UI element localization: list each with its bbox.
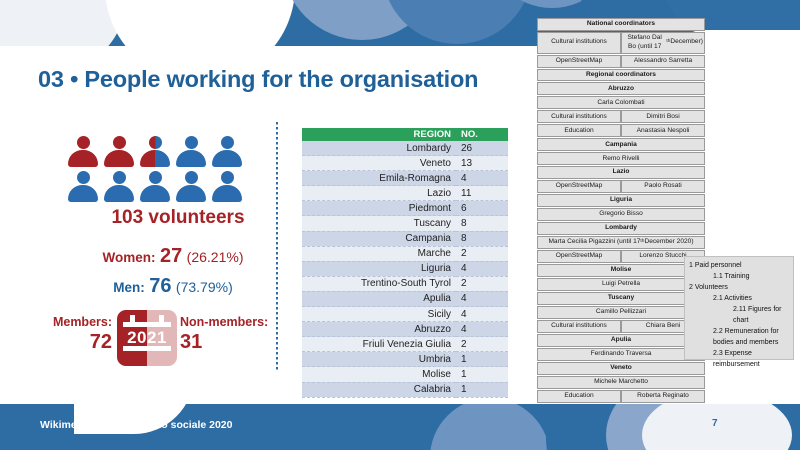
coordinator-role-cell: OpenStreetMap <box>537 180 621 193</box>
coordinator-name-cell: Camillo Pellizzari <box>537 306 705 319</box>
table-row: Molise1 <box>302 367 508 382</box>
coordinator-row: Lazio <box>537 166 705 179</box>
coordinator-row: Cultural institutionsDimitri Bosi <box>537 110 705 123</box>
coordinator-section-header: Liguria <box>537 194 705 207</box>
region-name-cell: Lombardy <box>302 141 456 156</box>
men-percent: (73.79%) <box>176 279 233 295</box>
table-row: Tuscany8 <box>302 216 508 231</box>
person-head-icon <box>77 171 90 184</box>
coordinator-row: Cultural institutionsChiara Beni <box>537 320 705 333</box>
person-head-icon <box>185 136 198 149</box>
calendar-year-icon: 2021 <box>117 310 177 366</box>
members-label: Members: <box>22 314 112 331</box>
coordinator-row: Apulia <box>537 334 705 347</box>
coordinator-name-cell: Marta Cecilia Pigazzini (until 17th Dece… <box>537 236 705 249</box>
people-row-top <box>68 136 248 167</box>
coordinator-section-header: Campania <box>537 138 705 151</box>
region-name-cell: Lazio <box>302 186 456 201</box>
person-icon <box>68 171 98 202</box>
region-name-cell: Campania <box>302 231 456 246</box>
region-name-cell: Emila-Romagna <box>302 171 456 186</box>
person-head-icon <box>113 171 126 184</box>
footer-text: Wikimedia Italia - bilancio sociale 2020 <box>40 419 233 431</box>
coordinator-row: Luigi Petrella <box>537 278 705 291</box>
person-body-icon <box>140 150 170 167</box>
page-title: 03 • People working for the organisation <box>38 66 478 93</box>
table-row: Lazio11 <box>302 186 508 201</box>
region-name-cell: Calabria <box>302 382 456 397</box>
outline-line: 2 Volunteers <box>689 282 789 293</box>
number-column-header: NO. <box>456 128 508 141</box>
coordinator-row: Ferdinando Traversa <box>537 348 705 361</box>
person-head-icon <box>185 171 198 184</box>
region-name-cell: Friuli Venezia Giulia <box>302 337 456 352</box>
outline-line: 2.3 Expense reimbursement <box>689 348 789 370</box>
region-name-cell: Apulia <box>302 291 456 306</box>
coordinator-role-cell: OpenStreetMap <box>537 55 621 68</box>
coordinator-role-cell: Cultural institutions <box>537 110 621 123</box>
person-body-icon <box>68 150 98 167</box>
coordinator-row: Abruzzo <box>537 82 705 95</box>
coordinator-section-header: Abruzzo <box>537 82 705 95</box>
calendar-ring-left <box>130 315 135 327</box>
people-pictogram <box>68 136 248 202</box>
coordinator-name-cell: Stefano Dal Bo (until 17th December) <box>621 32 705 54</box>
person-icon <box>104 136 134 167</box>
men-label: Men: <box>113 280 145 295</box>
person-head-icon <box>77 136 90 149</box>
coordinator-row: Liguria <box>537 194 705 207</box>
person-body-icon <box>104 185 134 202</box>
coordinator-row: Campania <box>537 138 705 151</box>
region-table-head: REGION NO. <box>302 128 508 141</box>
region-count-cell: 8 <box>456 231 508 246</box>
women-label: Women: <box>103 250 156 265</box>
coordinator-section-header: Molise <box>537 264 705 277</box>
outline-line: 2.2 Remuneration for bodies and members <box>689 326 789 348</box>
region-name-cell: Liguria <box>302 261 456 276</box>
table-row: Umbria1 <box>302 352 508 367</box>
region-count-cell: 26 <box>456 141 508 156</box>
region-count-cell: 4 <box>456 291 508 306</box>
region-name-cell: Piedmont <box>302 201 456 216</box>
coordinator-name-cell: Roberta Reginato <box>621 390 705 403</box>
person-body-icon <box>212 150 242 167</box>
region-count-cell: 11 <box>456 186 508 201</box>
person-icon <box>68 136 98 167</box>
coordinator-name-cell: Remo Rivelli <box>537 152 705 165</box>
region-name-cell: Umbria <box>302 352 456 367</box>
person-head-icon <box>113 136 126 149</box>
coordinator-role-cell: Cultural institutions <box>537 32 621 54</box>
region-table-body: Lombardy26Veneto13Emila-Romagna4Lazio11P… <box>302 141 508 397</box>
region-name-cell: Molise <box>302 367 456 382</box>
region-count-cell: 6 <box>456 201 508 216</box>
coordinator-section-header: Lombardy <box>537 222 705 235</box>
coordinator-section-header: Tuscany <box>537 292 705 305</box>
coordinator-section-header: National coordinators <box>537 18 705 31</box>
table-row: Emila-Romagna4 <box>302 171 508 186</box>
table-row: Marche2 <box>302 246 508 261</box>
coordinator-name-cell: Michele Marchetto <box>537 376 705 389</box>
coordinator-row: National coordinators <box>537 18 705 31</box>
coordinator-row: EducationRoberta Reginato <box>537 390 705 403</box>
table-row: Apulia4 <box>302 291 508 306</box>
page-number: 7 <box>712 418 718 429</box>
coordinator-row: Tuscany <box>537 292 705 305</box>
table-row: Sicily4 <box>302 307 508 322</box>
table-row: Campania8 <box>302 231 508 246</box>
coordinator-row: Veneto <box>537 362 705 375</box>
region-name-cell: Veneto <box>302 156 456 171</box>
coordinator-name-cell: Paolo Rosati <box>621 180 705 193</box>
coordinator-role-cell: Education <box>537 390 621 403</box>
outline-line: 1 Paid personnel <box>689 260 789 271</box>
person-body-icon <box>68 185 98 202</box>
coordinator-row: Carla Colombati <box>537 96 705 109</box>
person-icon <box>212 136 242 167</box>
members-count: 72 <box>22 331 112 353</box>
region-count-cell: 1 <box>456 382 508 397</box>
women-stat-line: Women: 27 (26.21%) <box>58 245 288 268</box>
table-row: Trentino-South Tyrol2 <box>302 276 508 291</box>
table-row: Calabria1 <box>302 382 508 397</box>
coordinator-role-cell: OpenStreetMap <box>537 250 621 263</box>
region-count-cell: 13 <box>456 156 508 171</box>
person-head-icon <box>221 171 234 184</box>
region-table-header-row: REGION NO. <box>302 128 508 141</box>
coordinator-row: Camillo Pellizzari <box>537 306 705 319</box>
person-icon <box>140 171 170 202</box>
coordinator-row: EducationAnastasia Nespoli <box>537 124 705 137</box>
calendar-ring-right <box>159 315 164 327</box>
men-stat-line: Men: 76 (73.79%) <box>58 275 288 298</box>
table-row: Piedmont6 <box>302 201 508 216</box>
coordinator-row: Cultural institutionsStefano Dal Bo (unt… <box>537 32 705 54</box>
bottom-decorative-band: Wikimedia Italia - bilancio sociale 2020… <box>0 404 800 450</box>
person-icon <box>104 171 134 202</box>
coordinator-row: Gregorio Bisso <box>537 208 705 221</box>
person-icon <box>176 171 206 202</box>
coordinator-role-cell: Cultural institutions <box>537 320 621 333</box>
table-row: Abruzzo4 <box>302 322 508 337</box>
coordinators-table: National coordinatorsCultural institutio… <box>537 18 705 446</box>
coordinator-name-cell: Anastasia Nespoli <box>621 124 705 137</box>
coordinator-name-cell: Ferdinando Traversa <box>537 348 705 361</box>
nonmembers-label: Non-members: <box>180 314 290 331</box>
outline-line: 1.1 Training <box>689 271 789 282</box>
coordinator-row: Lombardy <box>537 222 705 235</box>
region-volunteers-table: REGION NO. Lombardy26Veneto13Emila-Romag… <box>302 128 508 398</box>
men-count: 76 <box>149 275 171 297</box>
region-count-cell: 4 <box>456 171 508 186</box>
table-row: Liguria4 <box>302 261 508 276</box>
region-count-cell: 2 <box>456 337 508 352</box>
region-count-cell: 2 <box>456 276 508 291</box>
region-name-cell: Tuscany <box>302 216 456 231</box>
members-stat: Members: 72 <box>22 314 112 353</box>
person-icon-half <box>140 136 170 167</box>
nonmembers-count: 31 <box>180 331 290 353</box>
coordinator-name-cell: Alessandro Sarretta <box>621 55 705 68</box>
person-head-icon <box>149 171 162 184</box>
coordinator-role-cell: Education <box>537 124 621 137</box>
top-circle-2 <box>105 0 295 46</box>
region-count-cell: 4 <box>456 307 508 322</box>
outline-overlay-box: 1 Paid personnel1.1 Training2 Volunteers… <box>684 256 794 360</box>
region-name-cell: Abruzzo <box>302 322 456 337</box>
person-body-icon <box>104 150 134 167</box>
nonmembers-stat: Non-members: 31 <box>180 314 290 353</box>
person-icon <box>176 136 206 167</box>
calendar-year-label: 2021 <box>117 327 177 349</box>
coordinator-row: Regional coordinators <box>537 69 705 82</box>
region-name-cell: Sicily <box>302 307 456 322</box>
coordinator-row: Marta Cecilia Pigazzini (until 17th Dece… <box>537 236 705 249</box>
person-head-icon <box>221 136 234 149</box>
coordinator-name-cell: Luigi Petrella <box>537 278 705 291</box>
region-count-cell: 4 <box>456 261 508 276</box>
coordinator-name-cell: Dimitri Bosi <box>621 110 705 123</box>
person-body-icon <box>176 185 206 202</box>
person-icon <box>212 171 242 202</box>
coordinator-row: OpenStreetMapAlessandro Sarretta <box>537 55 705 68</box>
person-head-icon <box>149 136 162 149</box>
coordinator-row: Michele Marchetto <box>537 376 705 389</box>
women-count: 27 <box>160 245 182 267</box>
region-count-cell: 1 <box>456 367 508 382</box>
coordinator-section-header: Veneto <box>537 362 705 375</box>
table-row: Veneto13 <box>302 156 508 171</box>
region-count-cell: 1 <box>456 352 508 367</box>
membership-breakdown: Members: 72 2021 Non-members: 31 <box>22 308 274 368</box>
coordinator-row: Molise <box>537 264 705 277</box>
volunteers-total-label: 103 volunteers <box>78 207 278 229</box>
women-percent: (26.21%) <box>187 249 244 265</box>
person-body-icon <box>140 185 170 202</box>
region-count-cell: 2 <box>456 246 508 261</box>
coordinator-name-cell: Gregorio Bisso <box>537 208 705 221</box>
coordinator-section-header: Apulia <box>537 334 705 347</box>
table-row: Lombardy26 <box>302 141 508 156</box>
region-name-cell: Trentino-South Tyrol <box>302 276 456 291</box>
outline-line: 2.11 Figures for chart <box>689 304 789 326</box>
coordinator-row: OpenStreetMapLorenzo Stucchi <box>537 250 705 263</box>
region-count-cell: 4 <box>456 322 508 337</box>
coordinator-row: Remo Rivelli <box>537 152 705 165</box>
slide-canvas: 03 • People working for the organisation… <box>0 0 800 450</box>
person-body-icon <box>212 185 242 202</box>
coordinator-name-cell: Carla Colombati <box>537 96 705 109</box>
table-row: Friuli Venezia Giulia2 <box>302 337 508 352</box>
region-count-cell: 8 <box>456 216 508 231</box>
coordinator-section-header: Lazio <box>537 166 705 179</box>
outline-line: 2.1 Activities <box>689 293 789 304</box>
people-row-bottom <box>68 171 248 202</box>
region-column-header: REGION <box>302 128 456 141</box>
coordinator-section-header: Regional coordinators <box>537 69 705 82</box>
region-name-cell: Marche <box>302 246 456 261</box>
coordinator-row: OpenStreetMapPaolo Rosati <box>537 180 705 193</box>
person-body-icon <box>176 150 206 167</box>
